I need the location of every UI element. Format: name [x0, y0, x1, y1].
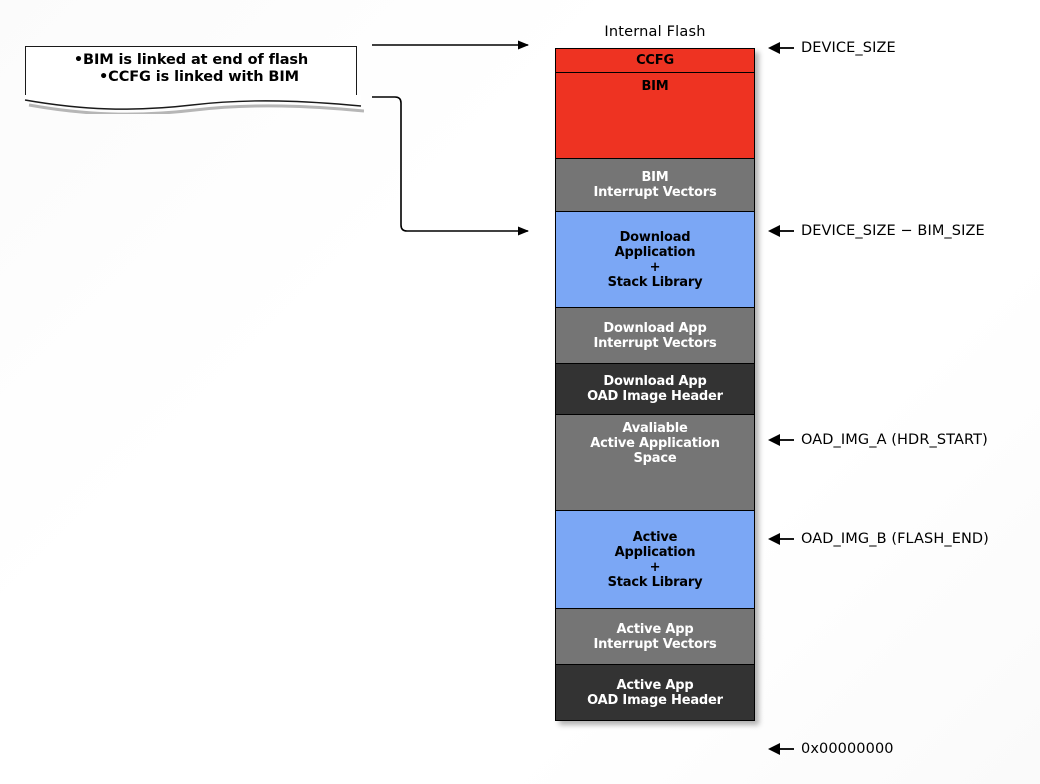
flash-memory-column: CCFGBIMBIMInterrupt VectorsDownloadAppli…	[555, 48, 755, 721]
flash-block-label: BIM	[556, 73, 754, 94]
memory-address-annotation: DEVICE_SIZE − BIM_SIZE	[768, 222, 985, 240]
flash-block-label: CCFG	[556, 53, 754, 68]
memory-address-annotation: DEVICE_SIZE	[768, 39, 896, 57]
annotation-label: OAD_IMG_A (HDR_START)	[801, 432, 988, 448]
flash-block: BIMInterrupt Vectors	[555, 158, 755, 211]
note-callout-text: •BIM is linked at end of flash •CCFG is …	[25, 52, 357, 86]
flash-block: Download AppOAD Image Header	[555, 363, 755, 414]
page-background	[0, 0, 1040, 784]
flash-block-label: DownloadApplication+Stack Library	[556, 230, 754, 290]
flash-block: Active AppOAD Image Header	[555, 664, 755, 721]
flash-block-label: Active AppOAD Image Header	[556, 678, 754, 708]
flash-block-label: Active AppInterrupt Vectors	[556, 622, 754, 652]
flash-block: DownloadApplication+Stack Library	[555, 211, 755, 307]
flash-block-label: Download AppOAD Image Header	[556, 374, 754, 404]
annotation-label: DEVICE_SIZE − BIM_SIZE	[801, 223, 985, 239]
left-arrow-icon	[768, 742, 794, 756]
flash-block: AvaliableActive ApplicationSpace	[555, 414, 755, 510]
left-arrow-icon	[768, 433, 794, 447]
flash-block-label: Download AppInterrupt Vectors	[556, 321, 754, 351]
memory-address-annotation: 0x00000000	[768, 740, 894, 758]
flash-block-label: ActiveApplication+Stack Library	[556, 530, 754, 590]
left-arrow-icon	[768, 224, 794, 238]
note-callout-torn-edge	[22, 92, 364, 114]
left-arrow-icon	[768, 532, 794, 546]
note-bullet-1: •BIM is linked at end of flash	[25, 52, 357, 69]
flash-block-label: BIMInterrupt Vectors	[556, 170, 754, 200]
flash-block: BIM	[555, 72, 755, 158]
left-arrow-icon	[768, 41, 794, 55]
memory-address-annotation: OAD_IMG_A (HDR_START)	[768, 431, 988, 449]
flash-column-title: Internal Flash	[555, 24, 755, 40]
flash-block: CCFG	[555, 48, 755, 72]
annotation-label: OAD_IMG_B (FLASH_END)	[801, 531, 989, 547]
flash-block: Download AppInterrupt Vectors	[555, 307, 755, 363]
note-bullet-2: •CCFG is linked with BIM	[25, 69, 357, 86]
memory-address-annotation: OAD_IMG_B (FLASH_END)	[768, 530, 989, 548]
flash-block-label: AvaliableActive ApplicationSpace	[556, 415, 754, 466]
annotation-label: 0x00000000	[801, 741, 894, 757]
annotation-label: DEVICE_SIZE	[801, 40, 896, 56]
flash-block: Active AppInterrupt Vectors	[555, 608, 755, 664]
flash-block: ActiveApplication+Stack Library	[555, 510, 755, 608]
